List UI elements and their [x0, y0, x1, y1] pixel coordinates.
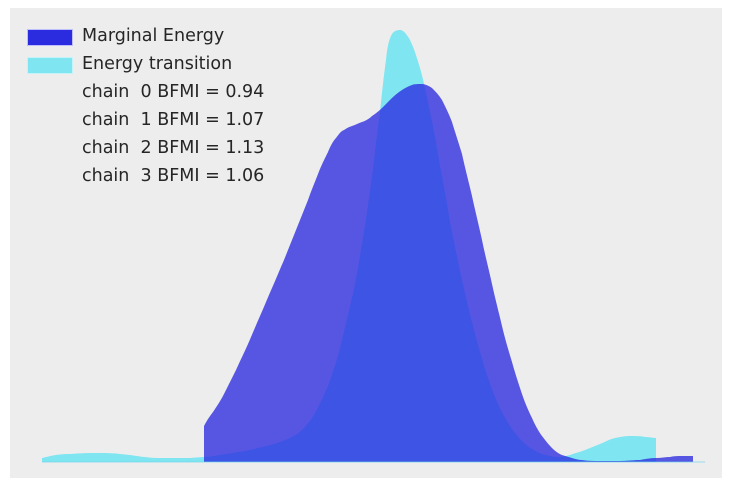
legend-row-energy-transition: Energy transition: [27, 51, 327, 79]
bfmi-label-chain-0: chain 0 BFMI = 0.94: [82, 84, 264, 102]
legend-row-bfmi-chain-2: chain 2 BFMI = 1.13: [27, 135, 327, 163]
legend-row-bfmi-chain-0: chain 0 BFMI = 0.94: [27, 79, 327, 107]
legend-label-energy-transition: Energy transition: [82, 56, 232, 74]
marginal-energy-swatch: [27, 29, 73, 46]
plot-axes: Marginal Energy Energy transition chain …: [10, 8, 722, 478]
legend-row-bfmi-chain-3: chain 3 BFMI = 1.06: [27, 163, 327, 191]
energy-transition-swatch: [27, 57, 73, 74]
energy-plot-figure: Marginal Energy Energy transition chain …: [0, 0, 731, 491]
chart-legend: Marginal Energy Energy transition chain …: [27, 23, 327, 191]
bfmi-label-chain-2: chain 2 BFMI = 1.13: [82, 140, 264, 158]
bfmi-label-chain-1: chain 1 BFMI = 1.07: [82, 112, 264, 130]
legend-row-bfmi-chain-1: chain 1 BFMI = 1.07: [27, 107, 327, 135]
legend-label-marginal-energy: Marginal Energy: [82, 28, 224, 46]
bfmi-label-chain-3: chain 3 BFMI = 1.06: [82, 168, 264, 186]
legend-row-marginal-energy: Marginal Energy: [27, 23, 327, 51]
